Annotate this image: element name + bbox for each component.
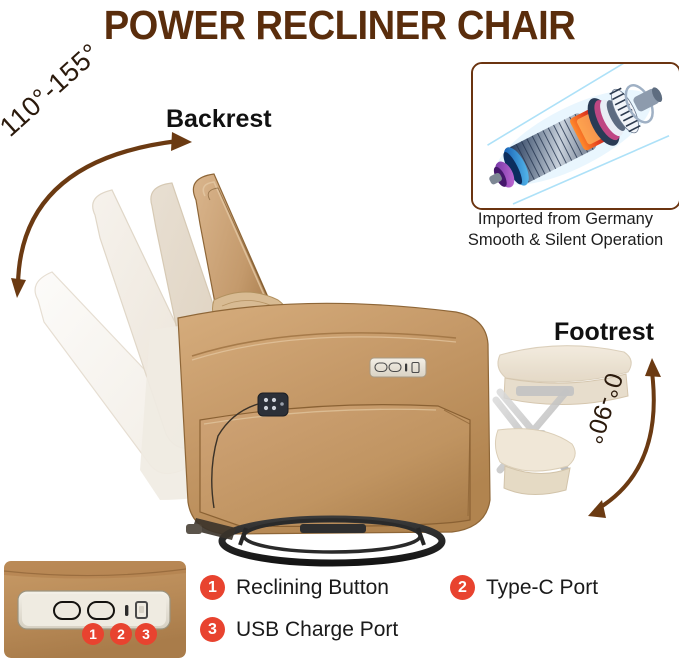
backrest-angle-text: 110°-155° [0,38,106,143]
legend-badge-2: 2 [450,575,475,600]
footrest-label: Footrest [554,318,654,347]
legend-badge-1: 1 [200,575,225,600]
footrest-angle-text: 0°-90° [578,369,628,447]
detail-badge-1: 1 [82,623,104,645]
footrest-arrow-head-bottom [588,500,606,518]
electric-motor-icon [473,64,679,208]
backrest-arrow-head-bottom [11,278,26,298]
backrest-angle-arrow [18,141,178,285]
recline-mechanism [186,518,236,540]
chair-body [178,303,490,534]
infographic-page: POWER RECLINER CHAIR [0,0,679,661]
legend-label-2: Type-C Port [486,576,598,600]
legend-item-type-c-port: 2 Type-C Port [450,575,598,600]
motor-caption-line-1: Imported from Germany [452,209,679,230]
remote-control [258,393,288,416]
chair-backrest [193,174,288,390]
legend-item-usb-charge-port: 3 USB Charge Port [200,617,398,642]
motor-caption-line-2: Smooth & Silent Operation [452,230,679,251]
swivel-base [222,519,442,563]
detail-badge-2: 2 [110,623,132,645]
legend-label-3: USB Charge Port [236,618,398,642]
legend-badge-3: 3 [200,617,225,642]
page-title: POWER RECLINER CHAIR [24,2,655,49]
motor-inset-box [471,62,679,210]
backrest-ghost-positions [35,183,250,500]
motor-caption: Imported from Germany Smooth & Silent Op… [452,209,679,251]
footrest-arrow-head-top [645,358,661,377]
headrest-pillow [213,292,290,334]
detail-badge-3: 3 [135,623,157,645]
backrest-label: Backrest [166,105,272,134]
control-panel-closeup: 1 2 3 [4,561,186,658]
backrest-arrow-head-top [171,132,192,151]
legend-label-1: Reclining Button [236,576,389,600]
legend-item-reclining-button: 1 Reclining Button [200,575,389,600]
chair-control-panel [370,358,426,377]
